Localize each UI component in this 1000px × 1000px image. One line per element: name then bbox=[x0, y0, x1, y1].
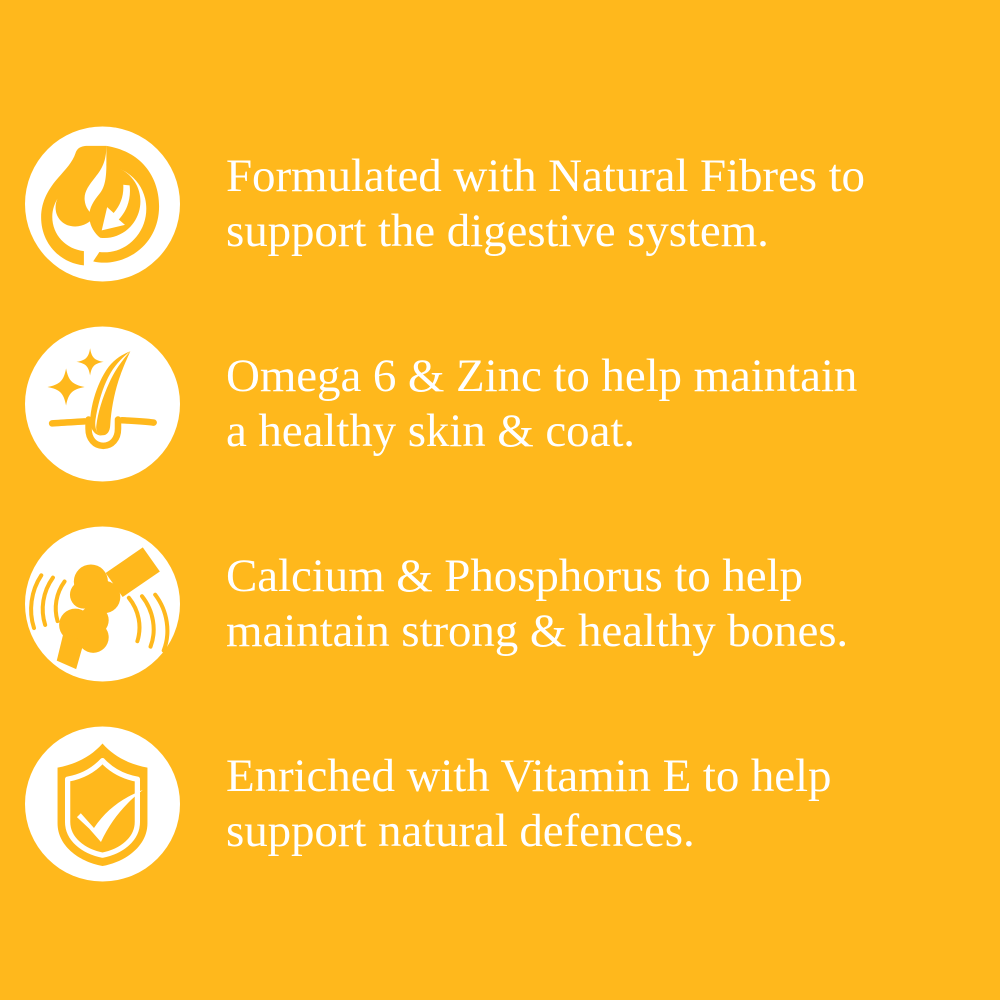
benefit-icon-container bbox=[0, 704, 180, 904]
benefit-text: Omega 6 & Zinc to help maintain a health… bbox=[180, 349, 1000, 459]
stomach-digestion-icon bbox=[25, 126, 180, 282]
benefit-text-line-1: Calcium & Phosphorus to help bbox=[226, 549, 982, 604]
benefit-icon-container bbox=[0, 104, 180, 304]
benefit-text-line-2: support natural defences. bbox=[226, 804, 982, 859]
benefit-row: Calcium & Phosphorus to help maintain st… bbox=[0, 504, 1000, 704]
benefit-text-line-2: a healthy skin & coat. bbox=[226, 404, 982, 459]
benefit-icon-container bbox=[0, 504, 180, 704]
hair-follicle-sparkle-icon bbox=[25, 326, 180, 482]
benefit-text: Calcium & Phosphorus to help maintain st… bbox=[180, 549, 1000, 659]
benefit-text-line-2: maintain strong & healthy bones. bbox=[226, 604, 982, 659]
bone-joint-motion-icon bbox=[25, 526, 180, 682]
benefit-text-line-1: Formulated with Natural Fibres to bbox=[226, 149, 982, 204]
benefits-panel: Formulated with Natural Fibres to suppor… bbox=[0, 0, 1000, 1000]
shield-check-icon bbox=[25, 726, 180, 882]
benefit-text-line-1: Omega 6 & Zinc to help maintain bbox=[226, 349, 982, 404]
benefit-icon-container bbox=[0, 304, 180, 504]
benefit-row: Enriched with Vitamin E to help support … bbox=[0, 704, 1000, 904]
benefit-text: Enriched with Vitamin E to help support … bbox=[180, 749, 1000, 859]
benefit-text-line-1: Enriched with Vitamin E to help bbox=[226, 749, 982, 804]
benefit-row: Omega 6 & Zinc to help maintain a health… bbox=[0, 304, 1000, 504]
benefit-list: Formulated with Natural Fibres to suppor… bbox=[0, 104, 1000, 904]
benefit-text-line-2: support the digestive system. bbox=[226, 204, 982, 259]
benefit-row: Formulated with Natural Fibres to suppor… bbox=[0, 104, 1000, 304]
benefit-text: Formulated with Natural Fibres to suppor… bbox=[180, 149, 1000, 259]
